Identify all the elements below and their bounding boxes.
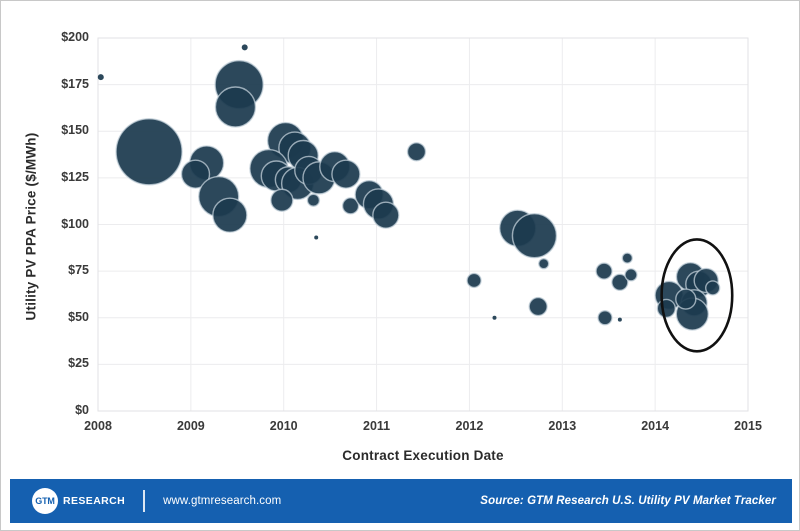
bubble-point	[98, 74, 104, 80]
y-tick-label: $25	[29, 356, 89, 370]
bubble-point	[332, 160, 360, 188]
x-axis-title: Contract Execution Date	[98, 448, 748, 463]
x-tick-label: 2013	[532, 419, 592, 433]
bubble-point	[242, 44, 248, 50]
bubble-point	[314, 236, 318, 240]
y-tick-label: $175	[29, 77, 89, 91]
bubble-point	[539, 259, 549, 269]
bubble-point	[657, 299, 675, 317]
y-tick-label: $100	[29, 217, 89, 231]
source-attribution: Source: GTM Research U.S. Utility PV Mar…	[480, 495, 776, 507]
x-tick-label: 2012	[439, 419, 499, 433]
gridlines	[98, 38, 748, 411]
bubble-point	[618, 318, 622, 322]
y-tick-label: $125	[29, 170, 89, 184]
brand-block: GTM RESEARCH www.gtmresearch.com	[32, 488, 281, 514]
bubble-point	[622, 253, 632, 263]
y-tick-label: $200	[29, 30, 89, 44]
x-tick-label: 2014	[625, 419, 685, 433]
y-tick-label: $0	[29, 403, 89, 417]
y-tick-label: $75	[29, 263, 89, 277]
website-url[interactable]: www.gtmresearch.com	[163, 495, 281, 507]
bubble-point	[271, 189, 293, 211]
bubble-point	[598, 311, 612, 325]
bubble-point	[625, 269, 637, 281]
footer-bar: GTM RESEARCH www.gtmresearch.com Source:…	[10, 479, 792, 523]
plot-svg	[1, 1, 800, 471]
bubble-point	[706, 281, 720, 295]
bubble-point	[116, 119, 182, 185]
y-tick-label: $50	[29, 310, 89, 324]
brand-divider	[143, 490, 145, 512]
bubble-point	[493, 316, 497, 320]
x-tick-label: 2015	[718, 419, 778, 433]
bubble-point	[373, 202, 399, 228]
y-tick-label: $150	[29, 123, 89, 137]
gtm-research-logo: GTM RESEARCH	[32, 488, 125, 514]
bubble-point	[676, 289, 696, 309]
chart-page: Utility PV PPA Price ($/MWh) Contract Ex…	[0, 0, 800, 531]
bubble-point	[408, 143, 426, 161]
bubble-point	[213, 198, 247, 232]
bubble-point	[512, 214, 556, 258]
x-tick-label: 2009	[161, 419, 221, 433]
x-tick-label: 2011	[347, 419, 407, 433]
bubble-chart: Utility PV PPA Price ($/MWh) Contract Ex…	[1, 1, 800, 471]
gtm-logo-mark: GTM	[32, 488, 58, 514]
bubble-point	[467, 273, 481, 287]
bubble-point	[307, 194, 319, 206]
bubble-point	[596, 263, 612, 279]
gtm-logo-word: RESEARCH	[63, 495, 125, 507]
x-tick-label: 2010	[254, 419, 314, 433]
bubble-point	[529, 298, 547, 316]
x-tick-label: 2008	[68, 419, 128, 433]
bubble-point	[215, 87, 255, 127]
